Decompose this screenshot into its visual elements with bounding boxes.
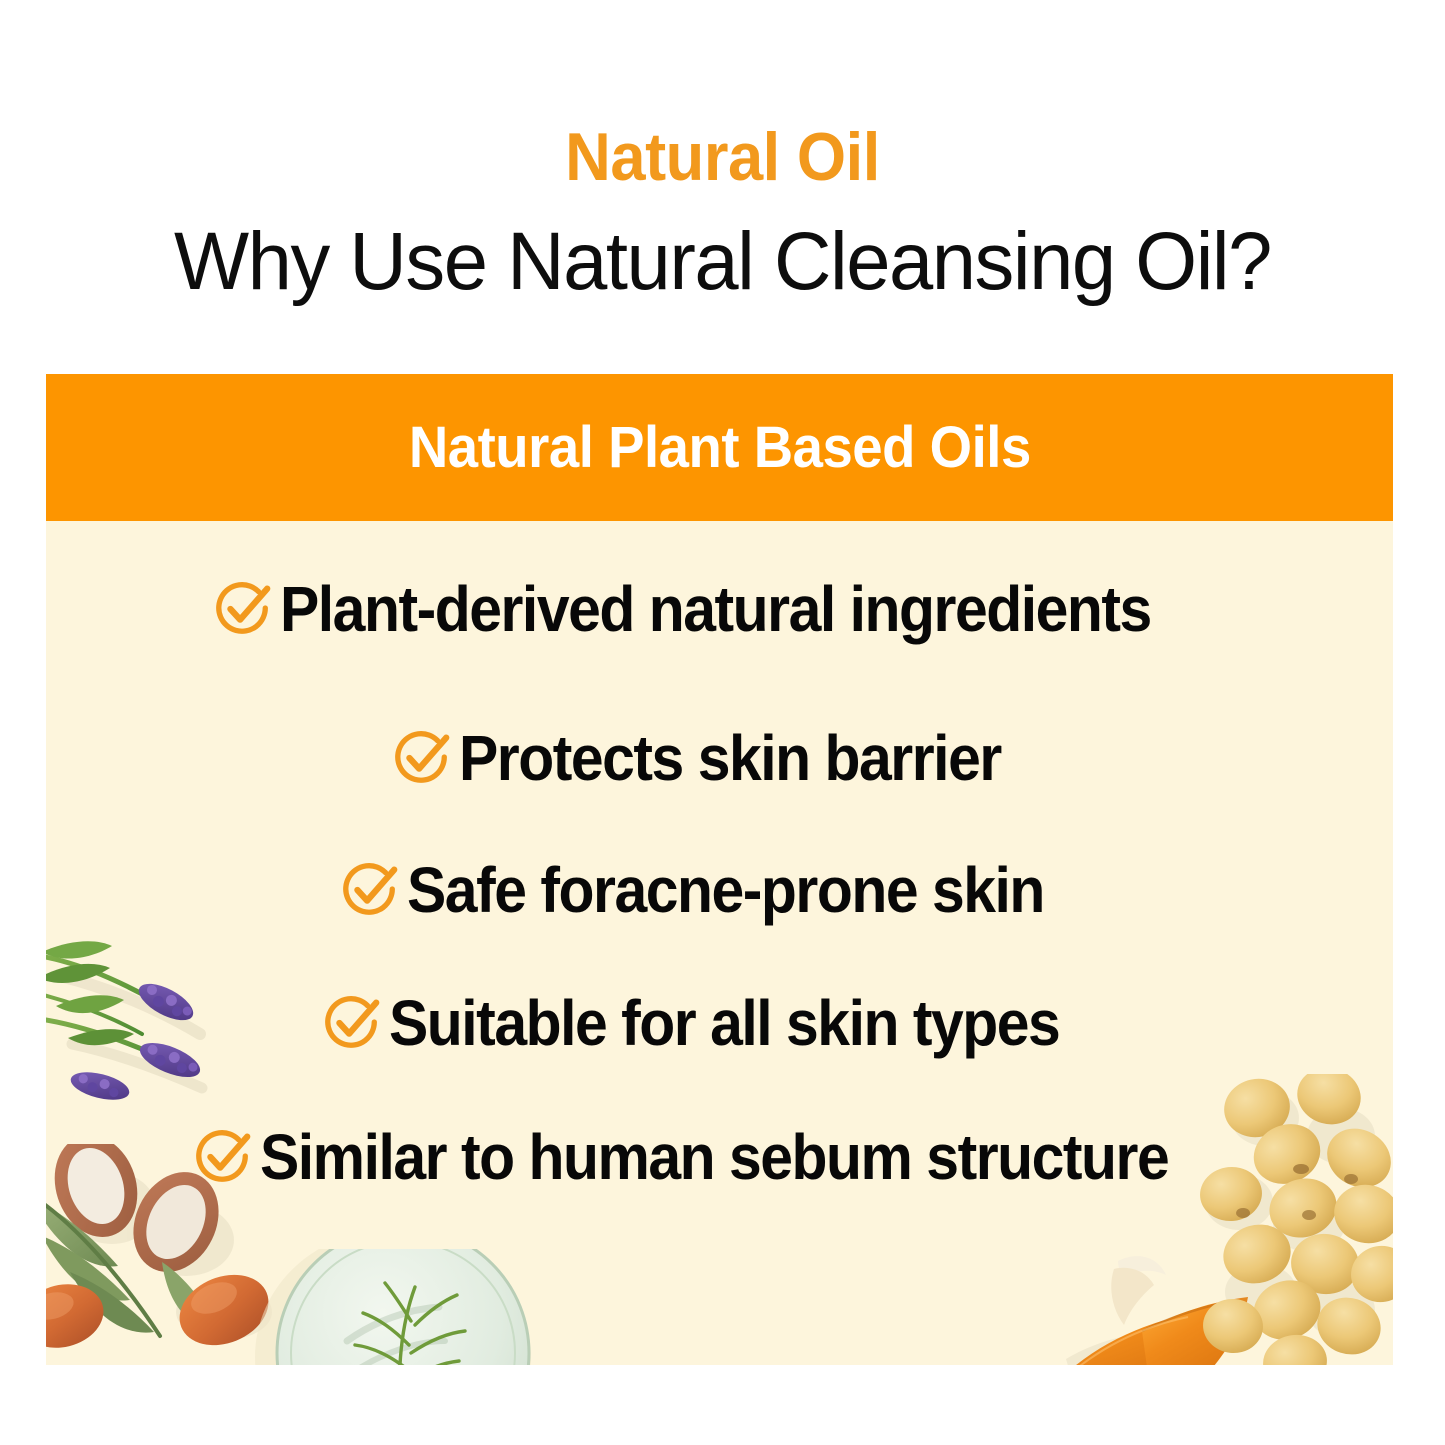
check-circle-icon xyxy=(339,859,401,921)
list-item-label: Safe foracne-prone skin xyxy=(407,858,1044,922)
check-circle-icon xyxy=(391,727,453,789)
panel-header-title: Natural Plant Based Oils xyxy=(409,419,1031,477)
list-item-label: Similar to human sebum structure xyxy=(260,1125,1168,1189)
panel-header-band: Natural Plant Based Oils xyxy=(46,374,1393,521)
check-circle-icon xyxy=(192,1126,254,1188)
list-item-label: Plant-derived natural ingredients xyxy=(280,577,1151,641)
page-title: Why Use Natural Cleansing Oil? xyxy=(22,221,1424,303)
benefits-list: Plant-derived natural ingredients Protec… xyxy=(46,521,1393,1365)
list-item-label: Suitable for all skin types xyxy=(389,991,1059,1055)
eyebrow-title: Natural Oil xyxy=(51,123,1395,191)
benefits-panel: Natural Plant Based Oils xyxy=(46,374,1393,1365)
check-circle-icon xyxy=(212,578,274,640)
list-item: Safe foracne-prone skin xyxy=(46,858,1393,922)
list-item: Protects skin barrier xyxy=(46,726,1393,790)
list-item: Suitable for all skin types xyxy=(46,991,1393,1055)
list-item: Similar to human sebum structure xyxy=(46,1125,1393,1189)
list-item: Plant-derived natural ingredients xyxy=(46,577,1393,641)
check-circle-icon xyxy=(321,992,383,1054)
list-item-label: Protects skin barrier xyxy=(459,726,1001,790)
infographic-canvas: Natural Oil Why Use Natural Cleansing Oi… xyxy=(0,0,1445,1445)
